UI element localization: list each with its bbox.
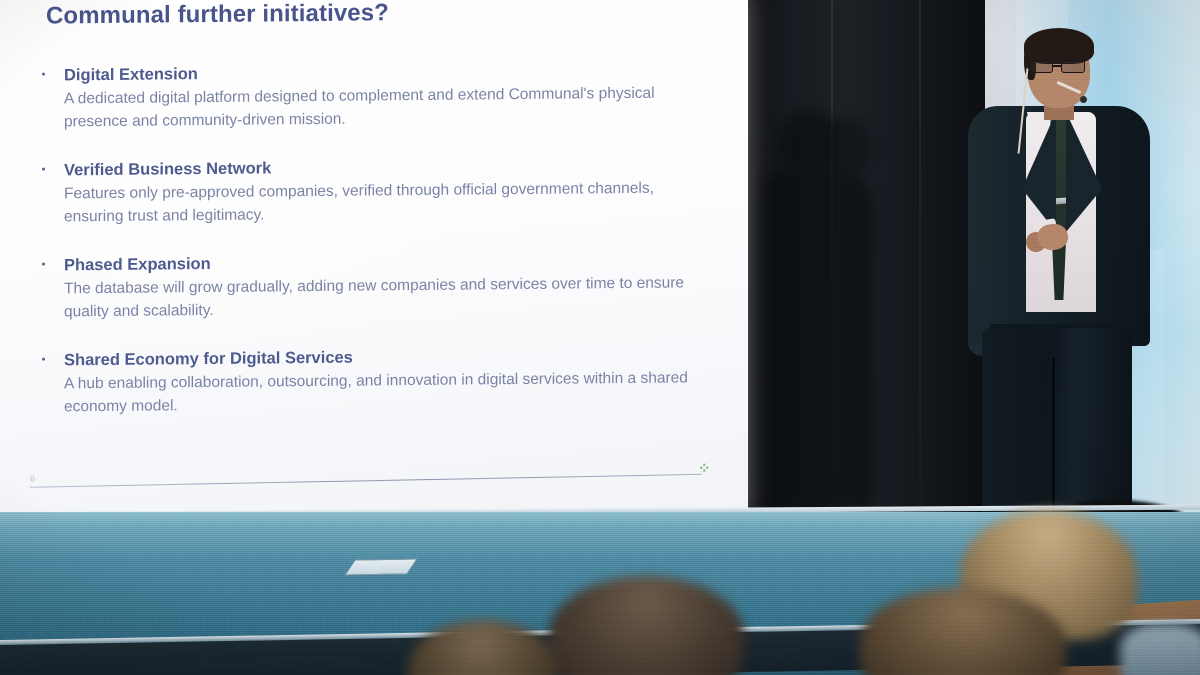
eyeglasses-icon: [1029, 60, 1089, 73]
bullet-body: The database will grow gradually, adding…: [64, 271, 704, 325]
bullet-item: Verified Business Network Features only …: [40, 154, 720, 230]
slide-title: Communal further initiatives?: [46, 0, 389, 31]
presenter-shadow: [752, 110, 902, 510]
bullet-dot-icon: [42, 168, 45, 171]
headset-mic-capsule: [1080, 96, 1087, 103]
bullet-dot-icon: [42, 73, 45, 76]
projected-slide: Communal further initiatives? Digital Ex…: [0, 0, 748, 523]
bullet-item: Phased Expansion The database will grow …: [40, 249, 720, 325]
bullet-body: A hub enabling collaboration, outsourcin…: [64, 366, 704, 420]
slide-footer: 6 ⁘: [30, 467, 720, 504]
presenter: [930, 28, 1160, 528]
presentation-scene: Communal further initiatives? Digital Ex…: [0, 0, 1200, 675]
floor-outlet-plate: [344, 558, 418, 575]
company-logo-icon: ⁘: [698, 459, 716, 479]
footer-divider: [30, 474, 702, 488]
audience-shoulder: [1120, 624, 1200, 675]
bullet-body: A dedicated digital platform designed to…: [64, 81, 704, 135]
bullet-item: Shared Economy for Digital Services A hu…: [40, 344, 720, 420]
bullet-item: Digital Extension A dedicated digital pl…: [40, 59, 720, 135]
slide-bullet-list: Digital Extension A dedicated digital pl…: [40, 59, 720, 446]
page-number: 6: [30, 474, 35, 484]
bullet-dot-icon: [42, 358, 45, 361]
bullet-dot-icon: [42, 263, 45, 266]
bullet-body: Features only pre-approved companies, ve…: [64, 176, 704, 230]
